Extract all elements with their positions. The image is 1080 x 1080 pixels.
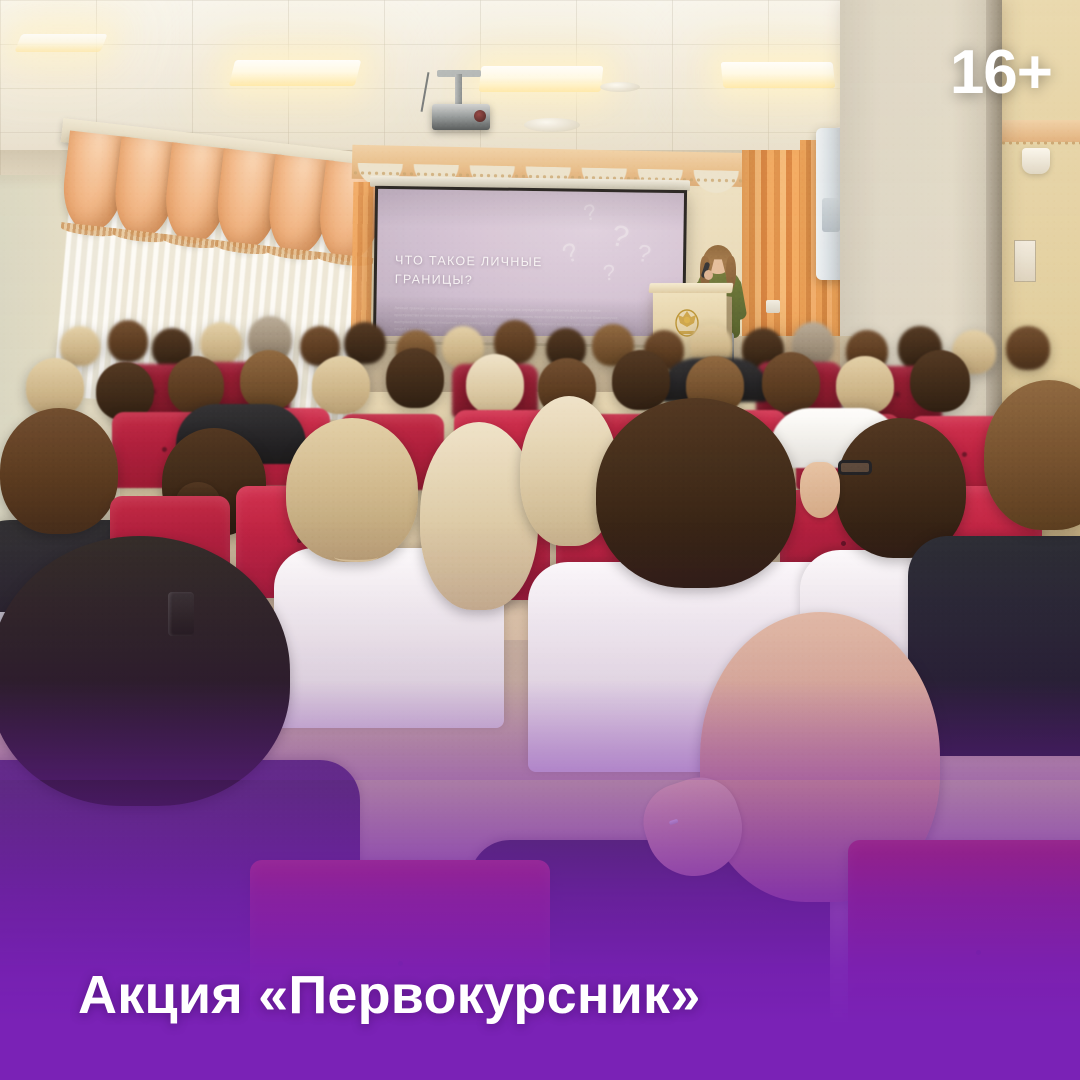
presenter-hand <box>704 270 713 280</box>
audience-member-head <box>286 418 418 562</box>
audience-member-head <box>1006 326 1050 370</box>
audience-member-head <box>984 380 1080 530</box>
auditorium-scene: ? ? ? ? ? ЧТО ТАКОЕ ЛИЧНЫЕ ГРАНИЦЫ? Личн… <box>0 0 1080 1080</box>
cornice-beading <box>1000 138 1080 148</box>
wall-sign <box>1014 240 1036 282</box>
age-rating-badge: 16+ <box>950 42 1052 104</box>
ceiling-light-panel <box>14 34 107 52</box>
audience-member-head <box>910 350 970 412</box>
wall-lamp <box>1022 148 1050 174</box>
ceiling-light-panel <box>479 66 604 92</box>
post-caption: Акция «Первокурсник» <box>78 967 701 1024</box>
audience-member-head <box>596 398 796 588</box>
ceiling-light-panel <box>721 62 836 88</box>
audience-member-head <box>0 408 118 534</box>
audience-member-head <box>762 352 820 412</box>
projector-lens <box>474 110 486 122</box>
hair-claw-clip <box>168 592 194 636</box>
audience-member-head <box>240 350 298 410</box>
audience <box>0 300 1080 1080</box>
audience-member-head <box>612 350 670 410</box>
audience-member-head <box>420 422 538 610</box>
ceiling-vent <box>524 118 580 132</box>
projector-mount-arm <box>455 74 462 108</box>
audience-member-head <box>836 356 894 414</box>
air-conditioner-vent <box>822 198 840 232</box>
audience-member-head <box>312 356 370 414</box>
necklace <box>334 552 378 562</box>
audience-member-hand <box>800 462 840 518</box>
audience-member-head <box>386 348 444 408</box>
ceiling-vent <box>600 82 640 92</box>
audience-member-head <box>108 320 148 362</box>
finger-ring <box>669 819 679 826</box>
auditorium-seat <box>848 840 1080 1080</box>
audience-member-head <box>0 536 290 806</box>
eyeglasses <box>838 460 872 475</box>
podium-top <box>648 283 733 293</box>
audience-member-head <box>466 354 524 414</box>
ceiling-light-panel <box>229 60 361 86</box>
social-media-photo-card: ? ? ? ? ? ЧТО ТАКОЕ ЛИЧНЫЕ ГРАНИЦЫ? Личн… <box>0 0 1080 1080</box>
ceiling-projector <box>432 104 490 130</box>
